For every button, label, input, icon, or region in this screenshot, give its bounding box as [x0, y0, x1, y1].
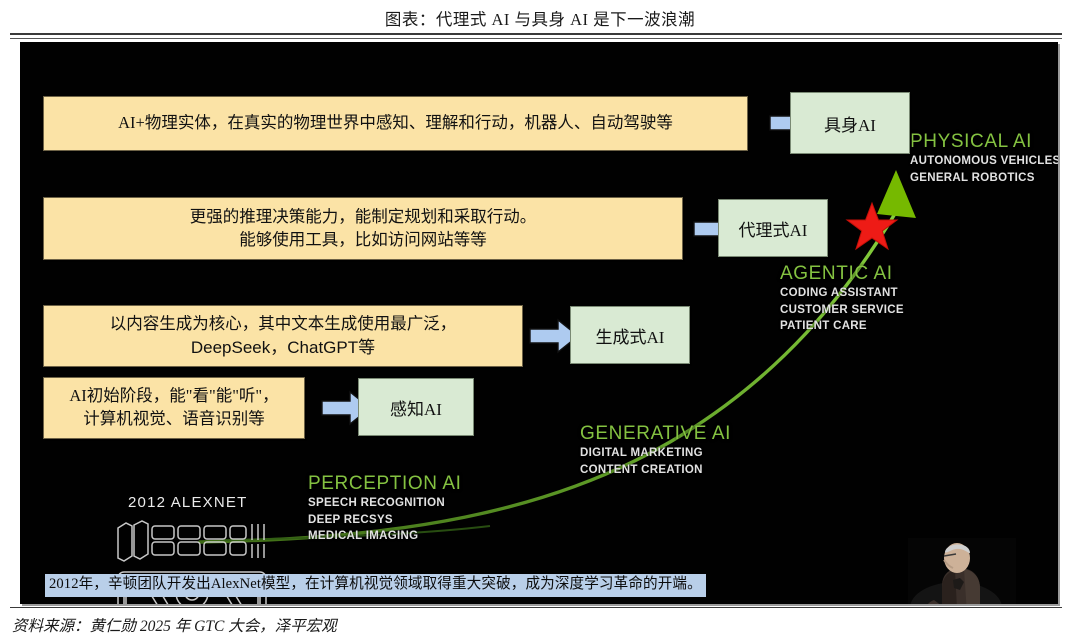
stage-physical-ai-sub-1: GENERAL ROBOTICS — [910, 171, 1058, 186]
title-divider-lower — [10, 38, 1062, 39]
callout-physical-ai: AI+物理实体，在真实的物理世界中感知、理解和行动，机器人、自动驾驶等 — [43, 96, 748, 151]
stage-perception-ai-sub-1: DEEP RECSYS — [308, 513, 462, 528]
stage-agentic-ai-sub-1: CUSTOMER SERVICE — [780, 303, 904, 318]
result-agentic-ai: 代理式AI — [718, 199, 828, 257]
callout-perception-ai-line2: 计算机视觉、语音识别等 — [83, 408, 265, 431]
stage-perception-ai-sub-0: SPEECH RECOGNITION — [308, 496, 462, 511]
alexnet-label: 2012 ALEXNET — [128, 494, 247, 511]
figure-panel: 2012 ALEXNET PHYSICAL AI AUTONOMOUS VEHI… — [20, 42, 1058, 604]
result-physical-ai: 具身AI — [790, 92, 910, 154]
stage-physical-ai-sub-0: AUTONOMOUS VEHICLES — [910, 154, 1058, 169]
stage-agentic-ai-sub-0: CODING ASSISTANT — [780, 286, 904, 301]
stage-agentic-ai-sub-2: PATIENT CARE — [780, 319, 904, 334]
source-note: 资料来源：黄仁勋 2025 年 GTC 大会，泽平宏观 — [12, 614, 337, 636]
result-generative-ai: 生成式AI — [570, 306, 690, 364]
stage-perception-ai-head: PERCEPTION AI — [308, 474, 462, 494]
stage-generative-ai-sub-1: CONTENT CREATION — [580, 463, 731, 478]
speaker-photo — [908, 538, 1016, 604]
result-perception-ai: 感知AI — [358, 378, 474, 436]
stage-physical-ai-head: PHYSICAL AI — [910, 132, 1058, 152]
callout-generative-ai-line2: DeepSeek，ChatGPT等 — [191, 336, 375, 359]
title-divider-upper — [10, 33, 1062, 35]
callout-agentic-ai: 更强的推理决策能力，能制定规划和采取行动。 能够使用工具，比如访问网站等等 — [43, 197, 683, 260]
page-title: 图表：代理式 AI 与具身 AI 是下一波浪潮 — [0, 6, 1080, 30]
stage-perception-ai: PERCEPTION AI SPEECH RECOGNITION DEEP RE… — [308, 474, 462, 544]
callout-agentic-ai-line2: 能够使用工具，比如访问网站等等 — [239, 229, 487, 252]
stage-perception-ai-sub-2: MEDICAL IMAGING — [308, 529, 462, 544]
figure-caption: 2012年，辛顿团队开发出AlexNet模型，在计算机视觉领域取得重大突破，成为… — [45, 574, 706, 597]
stage-generative-ai-sub-0: DIGITAL MARKETING — [580, 446, 731, 461]
callout-perception-ai: AI初始阶段，能"看"能"听"， 计算机视觉、语音识别等 — [43, 377, 305, 439]
red-star-icon — [845, 200, 899, 254]
callout-generative-ai: 以内容生成为核心，其中文本生成使用最广泛， DeepSeek，ChatGPT等 — [43, 305, 523, 367]
stage-generative-ai-head: GENERATIVE AI — [580, 424, 731, 444]
stage-agentic-ai-head: AGENTIC AI — [780, 264, 904, 284]
callout-generative-ai-line1: 以内容生成为核心，其中文本生成使用最广泛， — [110, 313, 457, 336]
callout-perception-ai-line1: AI初始阶段，能"看"能"听"， — [69, 385, 278, 408]
callout-agentic-ai-line1: 更强的推理决策能力，能制定规划和采取行动。 — [190, 206, 537, 229]
stage-agentic-ai: AGENTIC AI CODING ASSISTANT CUSTOMER SER… — [780, 264, 904, 334]
stage-generative-ai: GENERATIVE AI DIGITAL MARKETING CONTENT … — [580, 424, 731, 477]
source-divider — [10, 607, 1062, 608]
stage-physical-ai: PHYSICAL AI AUTONOMOUS VEHICLES GENERAL … — [910, 132, 1058, 185]
